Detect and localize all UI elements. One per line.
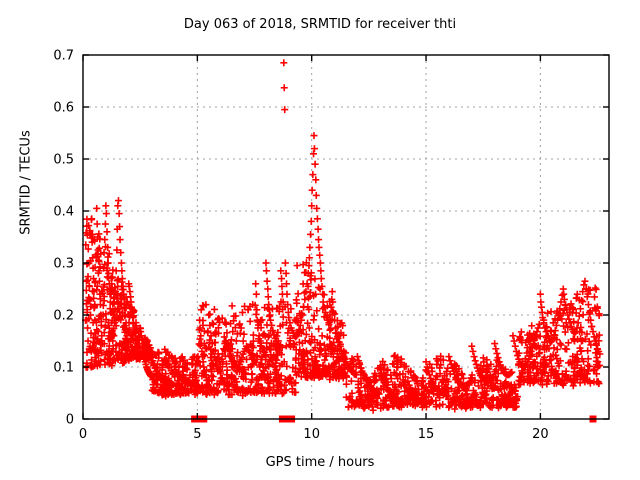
plot-root: Day 063 of 2018, SRMTID for receiver tht… [0,0,640,480]
x-tick-label: 5 [193,427,201,442]
x-tick-label: 10 [303,427,320,442]
y-tick-label: 0.7 [53,49,74,64]
x-tick-label: 20 [532,427,549,442]
y-tick-label: 0.3 [53,257,74,272]
axis-ticks-layer: 00.10.20.30.40.50.60.705101520 [53,49,609,443]
y-tick-label: 0.5 [53,153,74,168]
data-points-layer [82,59,603,422]
y-tick-label: 0.6 [53,101,74,116]
y-tick-label: 0.4 [53,205,74,220]
y-tick-label: 0.2 [53,309,74,324]
scatter-plot-canvas: 00.10.20.30.40.50.60.705101520 [0,0,640,480]
y-tick-label: 0.1 [53,361,74,376]
x-tick-label: 0 [79,427,87,442]
x-tick-label: 15 [418,427,435,442]
y-tick-label: 0 [66,413,74,428]
